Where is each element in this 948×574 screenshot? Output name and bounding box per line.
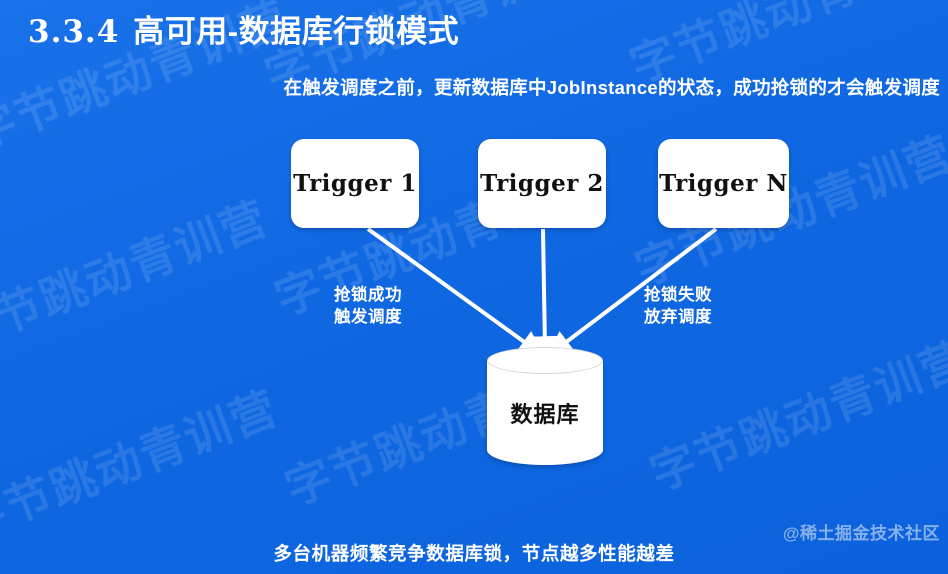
bottom-caption: 多台机器频繁竞争数据库锁，节点越多性能越差 (0, 540, 948, 566)
trigger-node-n[interactable]: Trigger N (658, 139, 789, 228)
trigger-node-2[interactable]: Trigger 2 (478, 139, 606, 228)
slide-canvas: 字节跳动青训营 字节跳动青训营 字节跳动青训营 字节跳动青训营 字节跳动青训营 … (0, 0, 948, 574)
architecture-diagram: Trigger 1 Trigger 2 Trigger N 抢锁成功 触发调度 … (0, 0, 948, 574)
database-label: 数据库 (487, 397, 603, 429)
trigger-node-1[interactable]: Trigger 1 (291, 139, 419, 228)
database-cylinder[interactable]: 数据库 (487, 347, 603, 478)
edge-label-lock-failure-line1: 抢锁失败 (644, 285, 712, 307)
edge-label-lock-failure-line2: 放弃调度 (644, 307, 712, 329)
connector-lines (0, 0, 948, 574)
edge-label-lock-success-line2: 触发调度 (334, 307, 402, 329)
trigger-node-1-label: Trigger 1 (293, 170, 417, 197)
trigger-node-2-label: Trigger 2 (480, 170, 604, 197)
connector-trigger2-to-database (543, 229, 545, 349)
edge-label-lock-success-line1: 抢锁成功 (334, 285, 402, 307)
edge-label-lock-failure: 抢锁失败 放弃调度 (644, 285, 712, 329)
edge-label-lock-success: 抢锁成功 触发调度 (334, 285, 402, 329)
trigger-node-n-label: Trigger N (659, 170, 788, 197)
database-cylinder-top (487, 347, 603, 374)
